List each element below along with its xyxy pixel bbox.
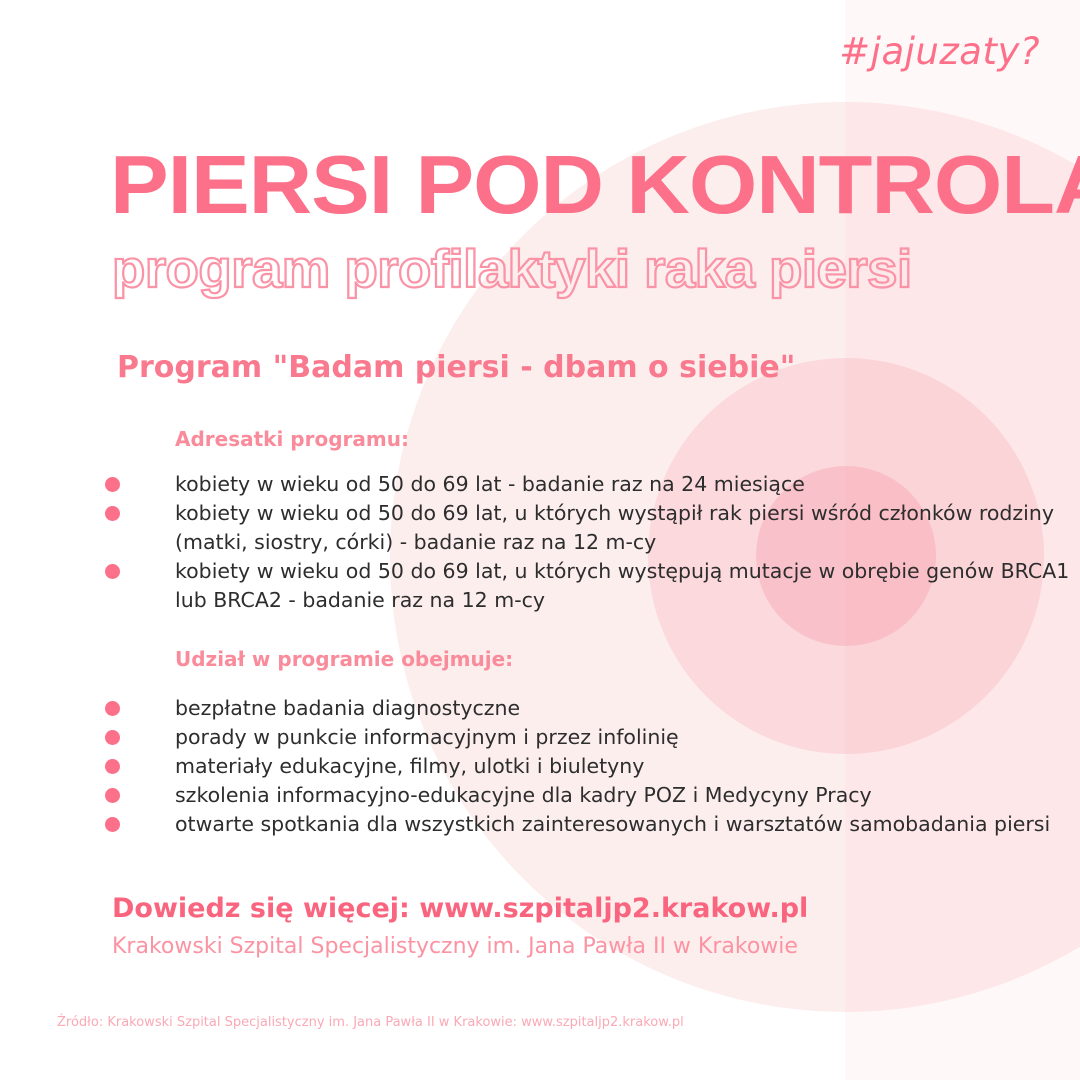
list-item-text: porady w punkcie informacyjnym i przez i… — [175, 725, 679, 749]
campaign-hashtag: #jajuzaty? — [839, 30, 1040, 73]
bullet-dot-icon — [105, 759, 120, 774]
list-item-text: otwarte spotkania dla wszystkich zainter… — [175, 812, 1050, 836]
adresatki-list: kobiety w wieku od 50 do 69 lat - badani… — [0, 470, 1080, 615]
bullet-dot-icon — [105, 730, 120, 745]
list-item-text: kobiety w wieku od 50 do 69 lat, u który… — [175, 559, 1069, 612]
program-name: Program "Badam piersi - dbam o siebie" — [117, 350, 795, 385]
list-item: kobiety w wieku od 50 do 69 lat, u który… — [0, 557, 1080, 615]
poster-canvas: #jajuzaty? PIERSI POD KONTROLĄ program p… — [0, 0, 1080, 1080]
bullet-dot-icon — [105, 701, 120, 716]
cta-website-link[interactable]: Dowiedz się więcej: www.szpitaljp2.krako… — [112, 893, 808, 924]
list-item-text: kobiety w wieku od 50 do 69 lat, u który… — [175, 501, 1054, 554]
list-item: kobiety w wieku od 50 do 69 lat, u który… — [0, 499, 1080, 557]
bullet-dot-icon — [105, 564, 120, 579]
bullet-dot-icon — [105, 477, 120, 492]
list-item: szkolenia informacyjno-edukacyjne dla ka… — [0, 781, 1080, 810]
list-item: otwarte spotkania dla wszystkich zainter… — [0, 810, 1080, 839]
udzial-list: bezpłatne badania diagnostyczne porady w… — [0, 694, 1080, 839]
page-title: PIERSI POD KONTROLĄ — [110, 143, 1080, 226]
list-item-text: materiały edukacyjne, filmy, ulotki i bi… — [175, 754, 644, 778]
list-item: porady w punkcie informacyjnym i przez i… — [0, 723, 1080, 752]
list-item-text: bezpłatne badania diagnostyczne — [175, 696, 520, 720]
poster-content: #jajuzaty? PIERSI POD KONTROLĄ program p… — [0, 0, 1080, 1080]
page-subtitle: program profilaktyki raka piersi — [112, 243, 912, 296]
list-item-text: kobiety w wieku od 50 do 69 lat - badani… — [175, 472, 805, 496]
bullet-dot-icon — [105, 817, 120, 832]
section-heading-adresatki: Adresatki programu: — [175, 427, 409, 451]
list-item: bezpłatne badania diagnostyczne — [0, 694, 1080, 723]
list-item: kobiety w wieku od 50 do 69 lat - badani… — [0, 470, 1080, 499]
source-attribution: Źródło: Krakowski Szpital Specjalistyczn… — [57, 1015, 684, 1030]
section-heading-udzial: Udział w programie obejmuje: — [175, 647, 513, 671]
list-item-text: szkolenia informacyjno-edukacyjne dla ka… — [175, 783, 872, 807]
list-item: materiały edukacyjne, filmy, ulotki i bi… — [0, 752, 1080, 781]
bullet-dot-icon — [105, 506, 120, 521]
organisation-name: Krakowski Szpital Specjalistyczny im. Ja… — [112, 934, 798, 959]
bullet-dot-icon — [105, 788, 120, 803]
